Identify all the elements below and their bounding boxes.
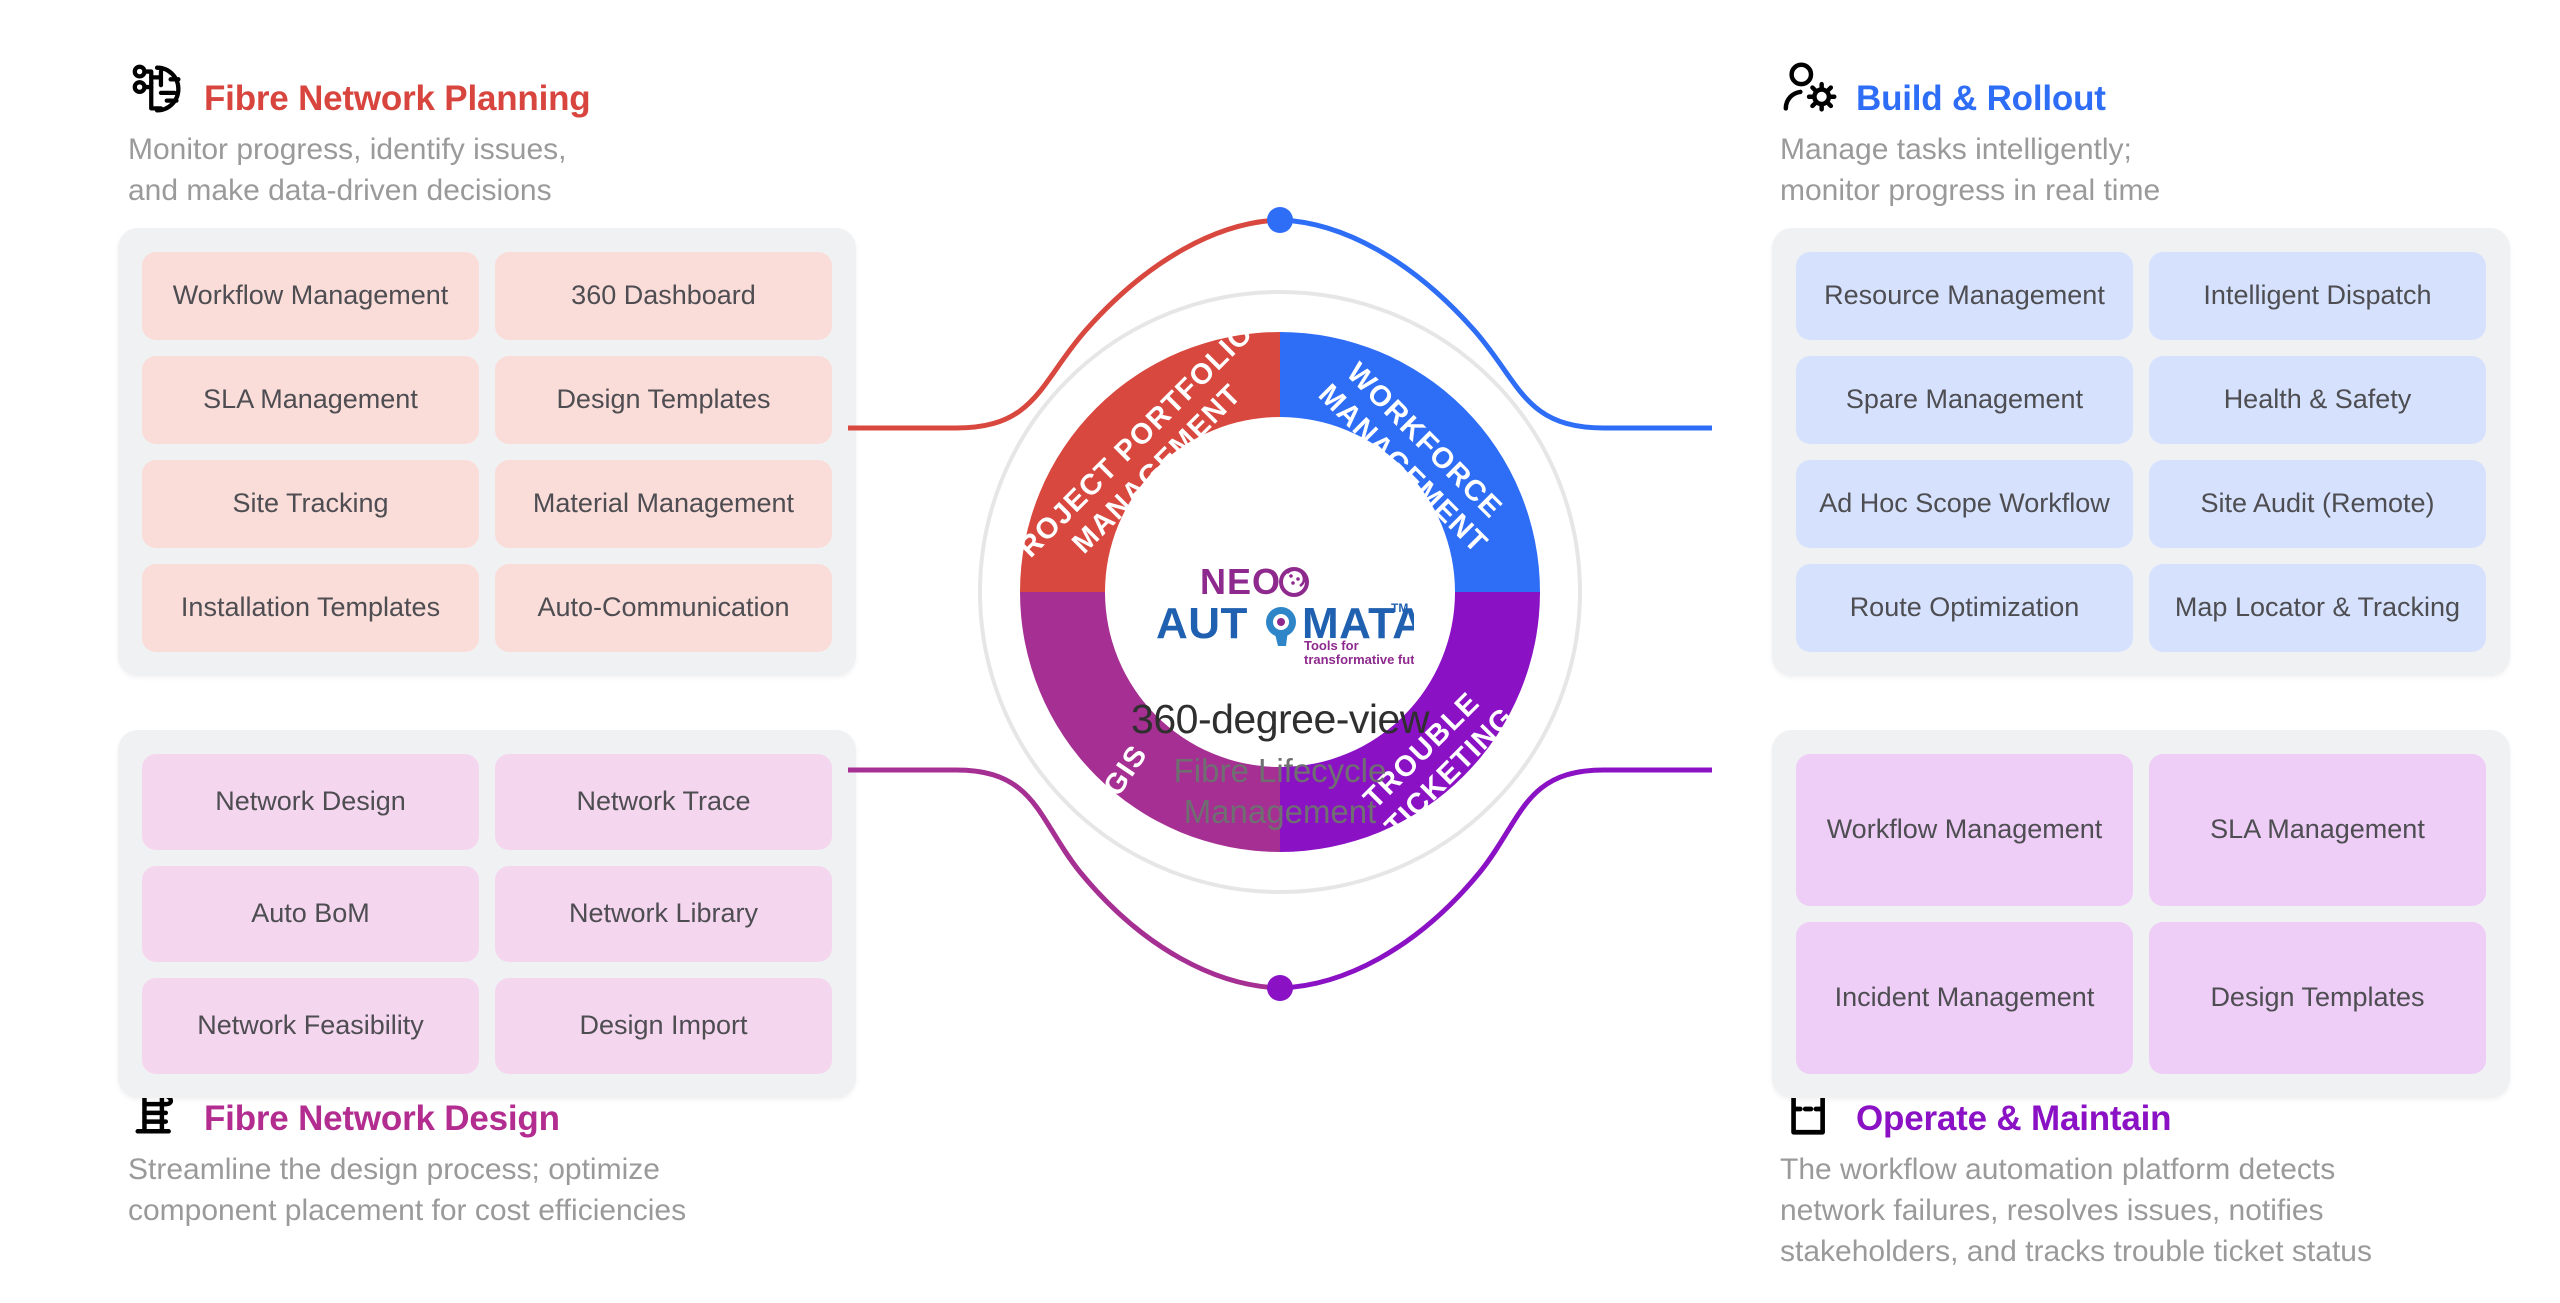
logo-aut-text: AUT: [1156, 599, 1248, 648]
feature-tile[interactable]: Site Tracking: [142, 460, 479, 548]
feature-tile[interactable]: Intelligent Dispatch: [2149, 252, 2486, 340]
logo-tagline1-text: Tools for: [1304, 638, 1359, 653]
centre-subheadline: Fibre Lifecycle Management: [1100, 751, 1460, 833]
feature-tile[interactable]: Network Library: [495, 866, 832, 962]
logo-tm-text: TM: [1391, 601, 1408, 615]
feature-tile[interactable]: Ad Hoc Scope Workflow: [1796, 460, 2133, 548]
heading-build-rollout: Build & Rollout Manage tasks intelligent…: [1780, 58, 2160, 212]
heading-description: Monitor progress, identify issues, and m…: [128, 130, 590, 212]
feature-panel-operate: Workflow Management SLA Management Incid…: [1772, 730, 2510, 1098]
feature-panel-design: Network Design Network Trace Auto BoM Ne…: [118, 730, 856, 1098]
feature-tile[interactable]: Design Import: [495, 978, 832, 1074]
centre-content: NEO AUT MATA TM Tools for transformative…: [1100, 560, 1460, 833]
heading-operate-maintain: Operate & Maintain The workflow automati…: [1780, 1078, 2372, 1272]
feature-tile[interactable]: Map Locator & Tracking: [2149, 564, 2486, 652]
feature-tile[interactable]: Workflow Management: [1796, 754, 2133, 906]
feature-tile[interactable]: Workflow Management: [142, 252, 479, 340]
feature-tile[interactable]: Material Management: [495, 460, 832, 548]
feature-tile[interactable]: Network Trace: [495, 754, 832, 850]
feature-tile[interactable]: Route Optimization: [1796, 564, 2133, 652]
feature-tile[interactable]: Health & Safety: [2149, 356, 2486, 444]
infographic-canvas: Fibre Network Planning Monitor progress,…: [0, 0, 2560, 1303]
heading-fibre-network-planning: Fibre Network Planning Monitor progress,…: [128, 58, 590, 212]
heading-description: Streamline the design process; optimize …: [128, 1150, 686, 1232]
feature-panel-build: Resource Management Intelligent Dispatch…: [1772, 228, 2510, 676]
segment-label-line1: PROJECT PORTFOLIO: [998, 317, 1260, 579]
feature-tile[interactable]: Resource Management: [1796, 252, 2133, 340]
feature-tile[interactable]: Design Templates: [495, 356, 832, 444]
feature-panel-planning: Workflow Management 360 Dashboard SLA Ma…: [118, 228, 856, 676]
heading-title: Fibre Network Design: [204, 1101, 560, 1140]
neoautomata-logo: NEO AUT MATA TM Tools for transformative…: [1100, 560, 1460, 670]
bottom-connector-dot: [1267, 975, 1293, 1001]
heading-title: Fibre Network Planning: [204, 81, 590, 120]
feature-tile[interactable]: SLA Management: [2149, 754, 2486, 906]
feature-tile[interactable]: Auto-Communication: [495, 564, 832, 652]
user-gear-icon: [1780, 58, 1842, 120]
feature-tile[interactable]: Network Design: [142, 754, 479, 850]
logo-neo-text: NEO: [1200, 561, 1281, 602]
network-planning-icon: [128, 58, 190, 120]
heading-description: Manage tasks intelligently; monitor prog…: [1780, 130, 2160, 212]
heading-title: Operate & Maintain: [1856, 1101, 2171, 1140]
feature-tile[interactable]: Site Audit (Remote): [2149, 460, 2486, 548]
top-connector-dot: [1267, 207, 1293, 233]
centre-headline: 360-degree-view: [1100, 696, 1460, 743]
heading-description: The workflow automation platform detects…: [1780, 1150, 2372, 1272]
feature-tile[interactable]: Installation Templates: [142, 564, 479, 652]
feature-tile[interactable]: SLA Management: [142, 356, 479, 444]
logo-mark: NEO AUT MATA TM Tools for transformative…: [1146, 560, 1414, 670]
feature-tile[interactable]: Design Templates: [2149, 922, 2486, 1074]
heading-fibre-network-design: Fibre Network Design Streamline the desi…: [128, 1078, 686, 1232]
feature-tile[interactable]: Auto BoM: [142, 866, 479, 962]
feature-tile[interactable]: 360 Dashboard: [495, 252, 832, 340]
logo-tagline2-text: transformative future: [1304, 652, 1414, 667]
feature-tile[interactable]: Network Feasibility: [142, 978, 479, 1074]
heading-title: Build & Rollout: [1856, 81, 2106, 120]
feature-tile[interactable]: Spare Management: [1796, 356, 2133, 444]
feature-tile[interactable]: Incident Management: [1796, 922, 2133, 1074]
